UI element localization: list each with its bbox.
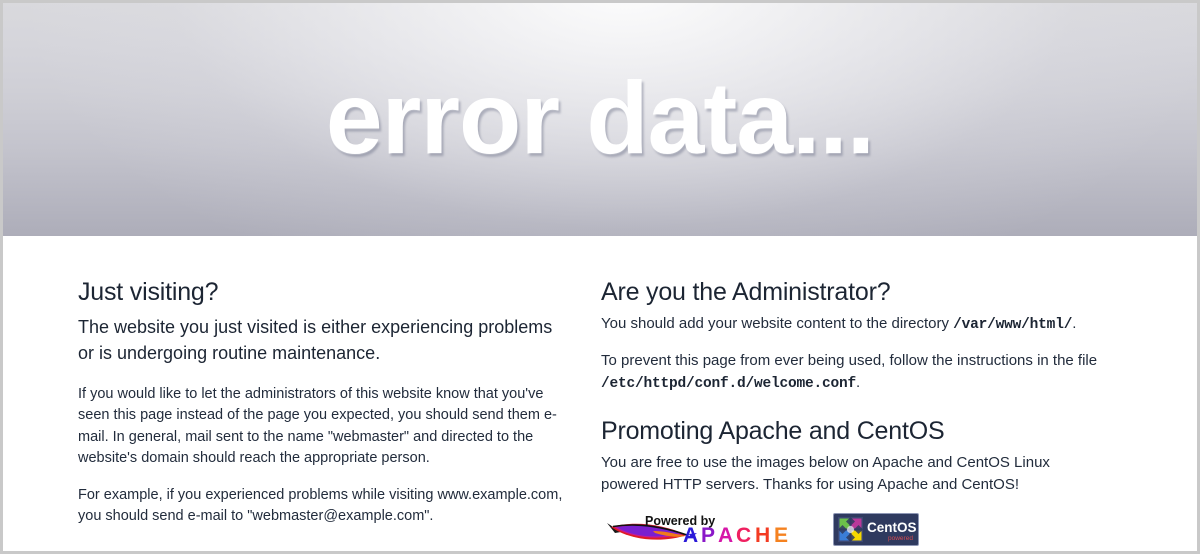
page-banner: error data... bbox=[3, 3, 1197, 236]
centos-powered-badge-icon[interactable]: CentOS powered bbox=[833, 513, 919, 546]
just-visiting-lead: The website you just visited is either e… bbox=[78, 315, 568, 367]
centos-wordmark: CentOS bbox=[867, 520, 917, 535]
svg-text:H: H bbox=[755, 524, 770, 547]
left-column: Just visiting? The website you just visi… bbox=[78, 278, 568, 543]
administrator-heading: Are you the Administrator? bbox=[601, 278, 1101, 306]
powered-by-apache-badge-icon[interactable]: Powered by A P A C H E bbox=[601, 509, 819, 549]
just-visiting-paragraph-1: If you would like to let the administrat… bbox=[78, 384, 568, 470]
page-title: error data... bbox=[3, 67, 1197, 169]
section-spacer bbox=[601, 409, 1101, 417]
administrator-directory-text: You should add your website content to t… bbox=[601, 313, 1101, 336]
just-visiting-heading: Just visiting? bbox=[78, 278, 568, 306]
svg-text:A: A bbox=[683, 524, 698, 547]
svg-text:C: C bbox=[736, 524, 751, 547]
website-content-path: /var/www/html/ bbox=[953, 317, 1072, 333]
apache-centos-test-page: error data... Just visiting? The website… bbox=[0, 0, 1200, 554]
centos-powered-label: powered bbox=[888, 535, 913, 542]
svg-text:A: A bbox=[718, 524, 733, 547]
promoting-paragraph: You are free to use the images below on … bbox=[601, 452, 1101, 496]
svg-text:P: P bbox=[701, 524, 715, 547]
administrator-directory-text-after: . bbox=[1072, 315, 1076, 332]
administrator-welcome-conf-text-after: . bbox=[856, 374, 860, 391]
welcome-conf-path: /etc/httpd/conf.d/welcome.conf bbox=[601, 376, 856, 392]
centos-logo-icon bbox=[838, 517, 863, 542]
administrator-directory-text-before: You should add your website content to t… bbox=[601, 315, 953, 332]
promoting-heading: Promoting Apache and CentOS bbox=[601, 417, 1101, 445]
svg-text:E: E bbox=[774, 524, 788, 547]
badge-row: Powered by A P A C H E bbox=[601, 509, 1101, 549]
administrator-welcome-conf-text-before: To prevent this page from ever being use… bbox=[601, 352, 1097, 369]
administrator-welcome-conf-text: To prevent this page from ever being use… bbox=[601, 350, 1101, 395]
just-visiting-paragraph-2: For example, if you experienced problems… bbox=[78, 485, 568, 528]
right-column: Are you the Administrator? You should ad… bbox=[601, 278, 1101, 549]
